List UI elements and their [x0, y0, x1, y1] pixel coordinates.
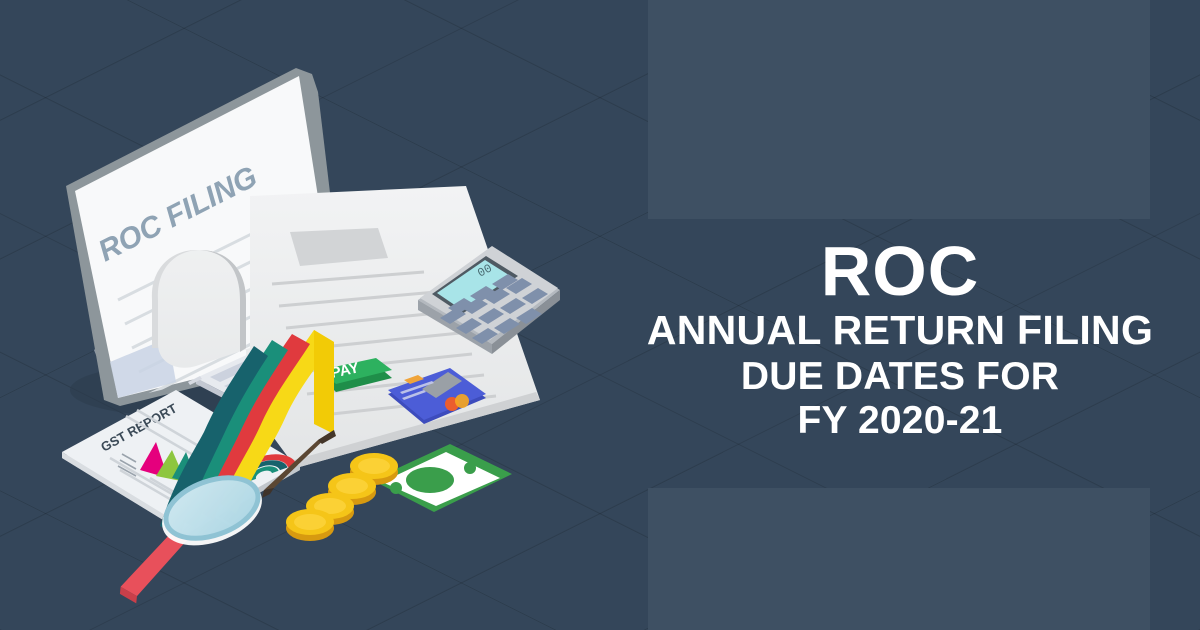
- wave-yellow-side: [314, 330, 334, 434]
- title-block: ROC ANNUAL RETURN FILING DUE DATES FOR F…: [630, 238, 1170, 443]
- title-line-fy: FY 2020-21: [630, 399, 1170, 443]
- decorative-panel-top: [648, 0, 1150, 219]
- title-line-annual: ANNUAL RETURN FILING: [630, 309, 1170, 352]
- title-line-roc: ROC: [630, 238, 1170, 305]
- coin-single: [286, 509, 334, 541]
- illustration-desk-scene: ROC FILING: [0, 0, 640, 630]
- banknote-portrait: [406, 467, 454, 493]
- title-line-duedates: DUE DATES FOR: [630, 355, 1170, 399]
- decorative-panel-bottom: [648, 488, 1150, 630]
- gold-coins: [286, 453, 398, 541]
- poster-canvas: ROC FILING: [0, 0, 1200, 630]
